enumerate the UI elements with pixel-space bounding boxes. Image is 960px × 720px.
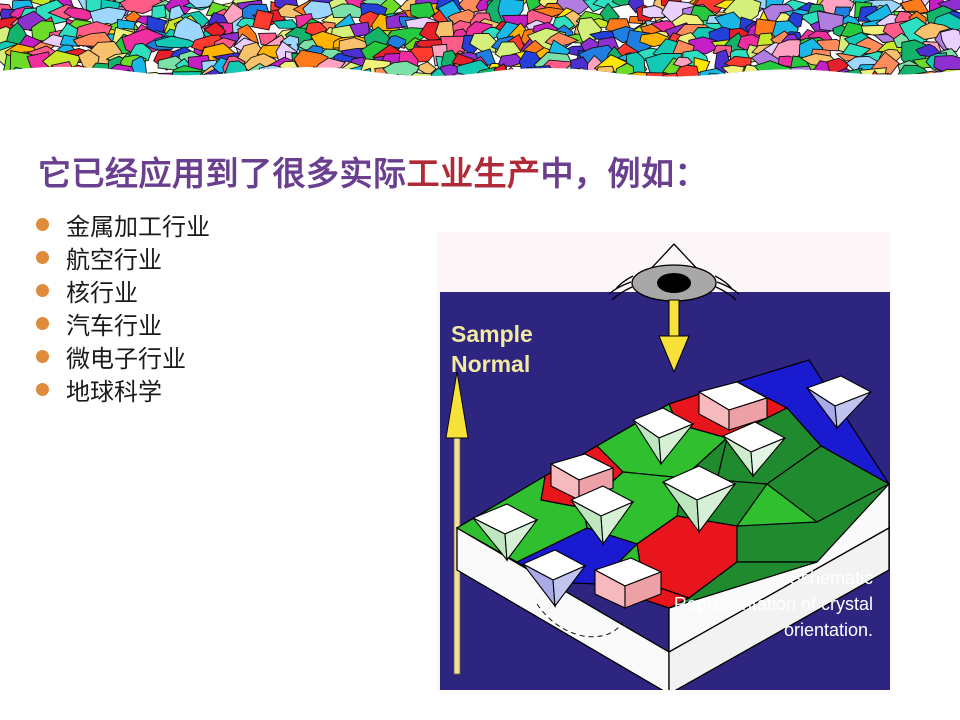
page-title: 它已经应用到了很多实际工业生产中，例如： xyxy=(38,157,708,193)
bullet-dot-icon xyxy=(36,284,49,297)
list-item-label: 金属加工行业 xyxy=(66,207,210,242)
list-item: 航空行业 xyxy=(36,241,210,274)
list-item: 核行业 xyxy=(36,274,210,307)
grain-tiles xyxy=(0,0,960,84)
list-item-label: 微电子行业 xyxy=(66,339,186,374)
caption-line-3: orientation. xyxy=(784,620,873,640)
ebsd-grain-orientation-map-band xyxy=(0,0,960,84)
list-item: 微电子行业 xyxy=(36,340,210,373)
bullet-dot-icon xyxy=(36,350,49,363)
bullet-dot-icon xyxy=(36,251,49,264)
list-item: 汽车行业 xyxy=(36,307,210,340)
bullet-dot-icon xyxy=(36,218,49,231)
list-item-label: 核行业 xyxy=(66,273,138,308)
list-item: 金属加工行业 xyxy=(36,208,210,241)
bullet-dot-icon xyxy=(36,317,49,330)
list-item-label: 汽车行业 xyxy=(66,306,162,341)
caption-line-1: Schematic xyxy=(789,568,873,588)
schematic-graphic: Sample Normal xyxy=(437,232,890,690)
industry-application-list: 金属加工行业 航空行业 核行业 汽车行业 微电子行业 地球科学 xyxy=(36,208,210,406)
list-item: 地球科学 xyxy=(36,373,210,406)
sample-normal-label-line2: Normal xyxy=(451,351,530,377)
crystal-orientation-schematic: Sample Normal xyxy=(437,232,890,690)
title-segment-red: 工业生产 xyxy=(407,157,541,193)
ebsd-band-graphic xyxy=(0,0,960,84)
list-item-label: 航空行业 xyxy=(66,240,162,275)
list-item-label: 地球科学 xyxy=(66,372,162,407)
title-segment-purple-start: 它已经应用到了很多实际 xyxy=(38,157,407,193)
title-segment-purple-end: 中，例如： xyxy=(541,157,709,193)
caption-line-2: Representation of crystal xyxy=(674,594,873,614)
sample-normal-label-line1: Sample xyxy=(451,321,533,347)
bullet-dot-icon xyxy=(36,383,49,396)
